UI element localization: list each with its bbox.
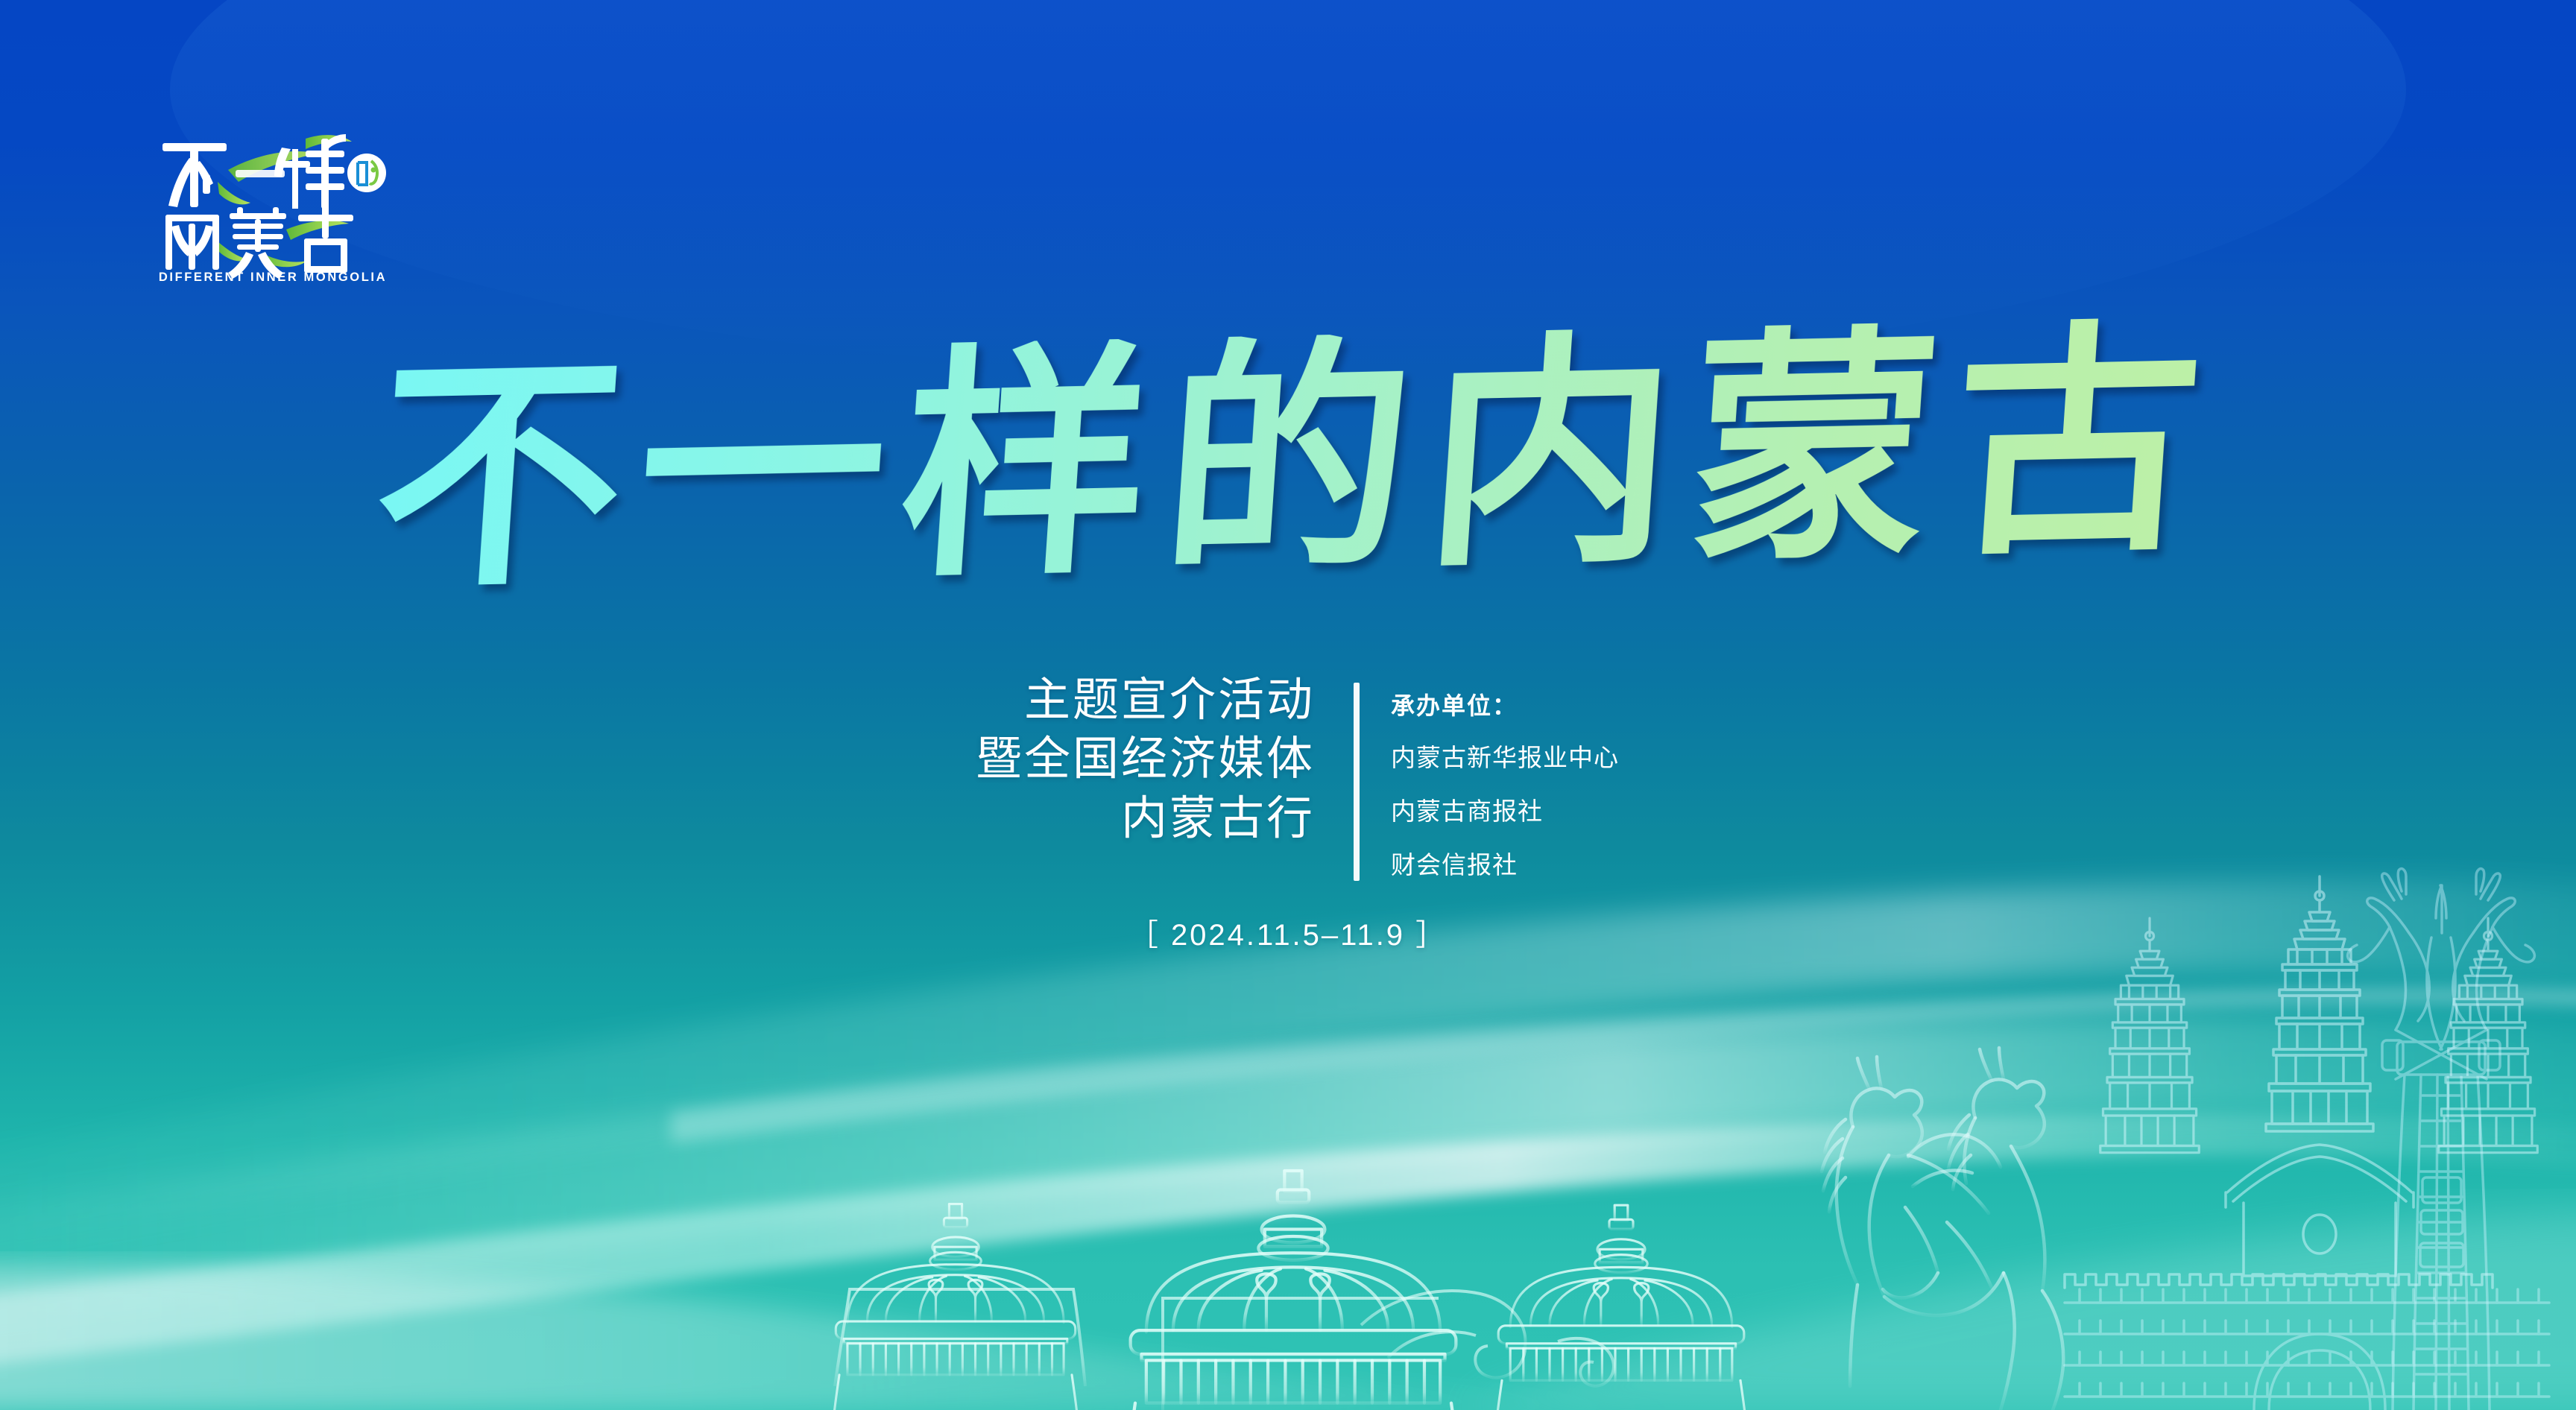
organizer-item: 财会信报社 [1391, 845, 1619, 881]
organizer-item: 内蒙古商报社 [1391, 791, 1619, 827]
galloping-horses [1822, 1048, 2063, 1410]
main-title-text: 不一样的内蒙古 [352, 316, 2224, 601]
different-inner-mongolia-logo: DIFFERENT INNER MONGOLIA [146, 128, 400, 283]
organizers-block: 承办单位： 内蒙古新华报业中心 内蒙古商报社 财会信报社 [1391, 671, 1619, 881]
organizer-item: 内蒙古新华报业中心 [1391, 738, 1619, 774]
yurt-pavilion-large-center [1124, 1142, 1462, 1410]
yurt-pavilion-small-left [831, 1183, 1080, 1410]
cloud-scroll-ornament [1361, 1291, 1614, 1386]
logo-characters-line1 [162, 134, 346, 209]
main-title: 不一样的内蒙古 [0, 298, 2576, 619]
logo-de-badge [347, 154, 386, 192]
subtitle-line-3: 内蒙古行 [957, 789, 1315, 848]
temple-gate-center [2226, 1145, 2414, 1276]
yurt-pavilion-small-right [1494, 1183, 1749, 1410]
event-date: ［ 2024.11.5–11.9 ］ [1128, 911, 1448, 954]
logo-characters-line2 [165, 204, 353, 279]
vertical-divider [1354, 683, 1360, 881]
event-subtitle: 主题宣介活动 暨全国经济媒体 内蒙古行 [957, 671, 1315, 848]
info-row: 主题宣介活动 暨全国经济媒体 内蒙古行 承办单位： 内蒙古新华报业中心 内蒙古商… [957, 671, 1619, 881]
poster-canvas: DIFFERENT INNER MONGOLIA 不一样的内蒙古 主题宣介活动 … [0, 0, 2576, 1410]
info-block: 主题宣介活动 暨全国经济媒体 内蒙古行 承办单位： 内蒙古新华报业中心 内蒙古商… [0, 671, 2576, 954]
organizers-heading: 承办单位： [1391, 687, 1619, 721]
subtitle-line-1: 主题宣介活动 [957, 671, 1315, 730]
subtitle-line-2: 暨全国经济媒体 [957, 730, 1315, 788]
logo-tagline: DIFFERENT INNER MONGOLIA [159, 271, 387, 283]
